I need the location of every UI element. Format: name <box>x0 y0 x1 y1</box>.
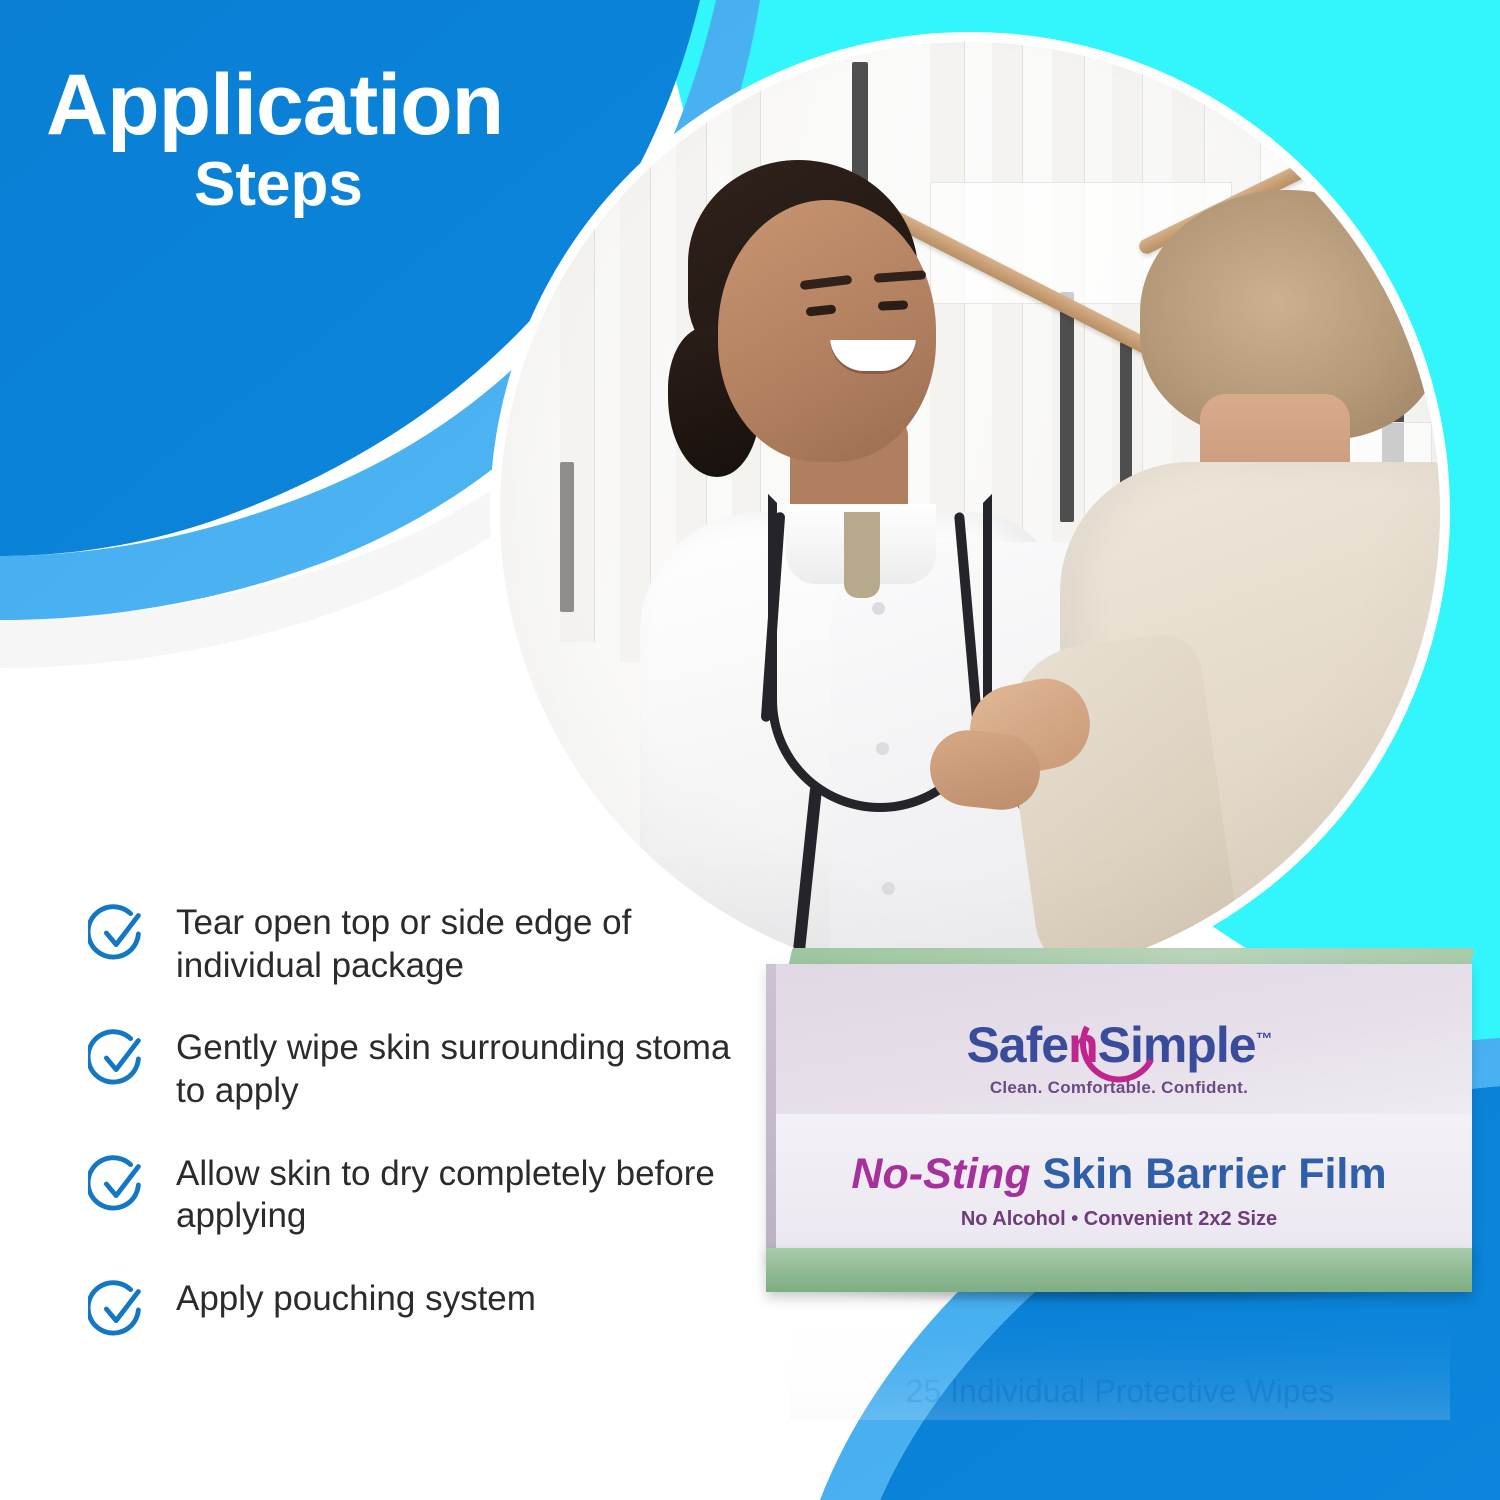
box-reflection: 25 Individual Protective Wipes <box>790 1300 1450 1420</box>
list-item: Tear open top or side edge of individual… <box>88 900 768 987</box>
brand-logo-text: SafenSimple™ <box>966 1016 1271 1074</box>
check-circle-icon <box>88 1027 150 1089</box>
brand-logo: SafenSimple™ Clean. Comfortable. Confide… <box>766 1016 1472 1098</box>
list-item-label: Allow skin to dry completely before appl… <box>176 1151 768 1238</box>
trademark-symbol: ™ <box>1256 1029 1272 1048</box>
application-steps-list: Tear open top or side edge of individual… <box>88 900 768 1378</box>
product-subtitle: No Alcohol • Convenient 2x2 Size <box>766 1208 1472 1231</box>
page-title: Application Steps <box>46 62 646 216</box>
headline-line-2: Steps <box>194 154 646 216</box>
brand-n: n <box>1068 1017 1098 1073</box>
list-item-label: Apply pouching system <box>176 1276 536 1321</box>
product-infographic: Application Steps <box>0 0 1500 1500</box>
box-front-face: SafenSimple™ Clean. Comfortable. Confide… <box>766 964 1472 1260</box>
box-reflection-text: 25 Individual Protective Wipes <box>790 1373 1450 1410</box>
list-item: Allow skin to dry completely before appl… <box>88 1151 768 1238</box>
check-circle-icon <box>88 1153 150 1215</box>
headline-line-1: Application <box>46 62 646 148</box>
check-circle-icon <box>88 902 150 964</box>
list-item: Gently wipe skin surrounding stoma to ap… <box>88 1025 768 1112</box>
product-title-rest: Skin Barrier Film <box>1042 1150 1386 1198</box>
product-title-emphasis: No-Sting <box>851 1150 1030 1198</box>
brand-part-1: Safe <box>966 1017 1068 1073</box>
list-item-label: Tear open top or side edge of individual… <box>176 900 768 987</box>
box-left-edge <box>766 964 776 1260</box>
box-bottom-edge <box>766 1248 1472 1292</box>
product-title: No-Sting Skin Barrier Film <box>766 1150 1472 1199</box>
product-box: SafenSimple™ Clean. Comfortable. Confide… <box>766 948 1472 1308</box>
list-item: Apply pouching system <box>88 1276 768 1340</box>
check-circle-icon <box>88 1278 150 1340</box>
list-item-label: Gently wipe skin surrounding stoma to ap… <box>176 1025 768 1112</box>
